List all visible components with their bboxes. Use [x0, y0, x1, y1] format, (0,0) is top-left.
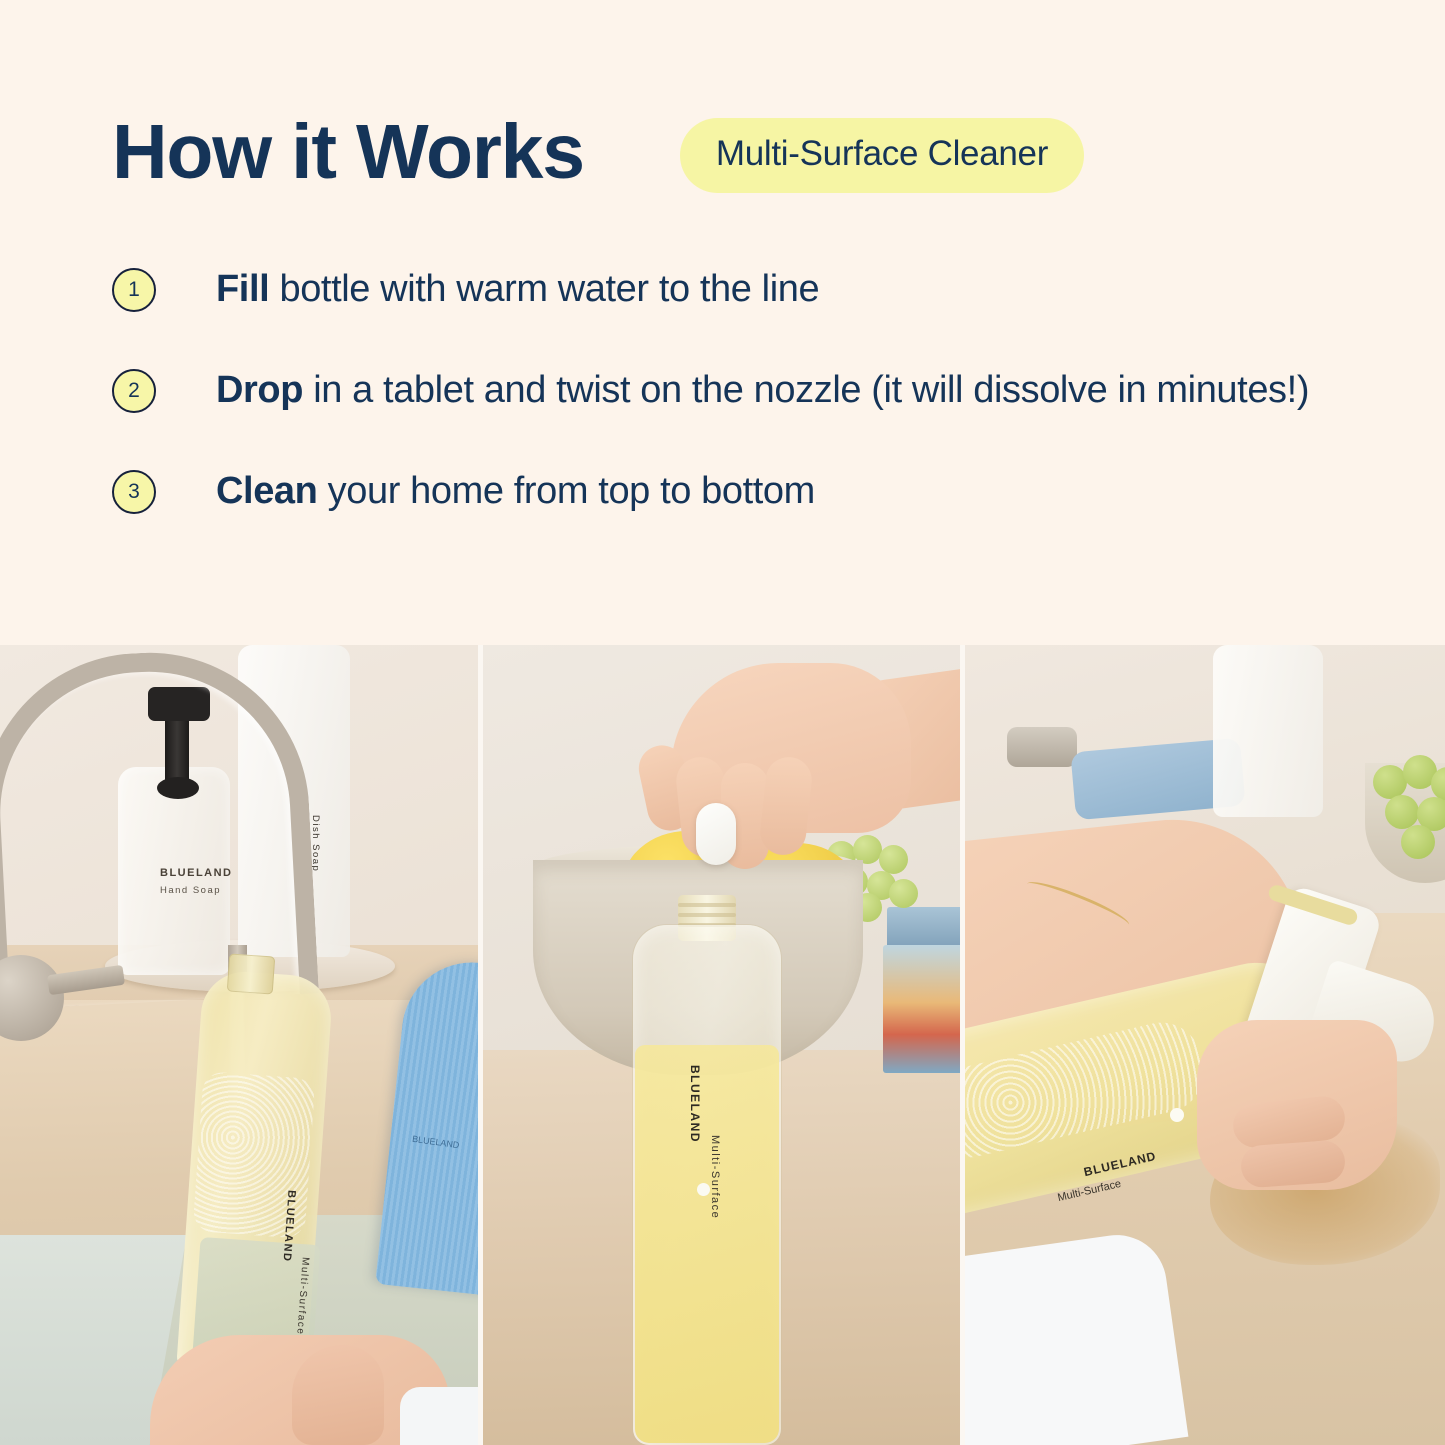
step-detail: in a tablet and twist on the nozzle (it … — [303, 369, 1309, 411]
grape — [1373, 765, 1407, 799]
product-badge: Multi-Surface Cleaner — [680, 118, 1084, 193]
step-number-badge: 2 — [112, 369, 156, 413]
cleaning-tablet — [696, 803, 736, 865]
page-title: How it Works — [112, 114, 584, 191]
water-fizz — [193, 1071, 316, 1238]
step-text: Drop in a tablet and twist on the nozzle… — [216, 363, 1309, 418]
step-number-badge: 3 — [112, 470, 156, 514]
hand-soap-brand-label: BLUELAND — [160, 867, 233, 879]
grape — [1385, 795, 1419, 829]
steps-list: 1 Fill bottle with warm water to the lin… — [112, 262, 1352, 565]
spray-product-label: Multi-Surface — [709, 1135, 721, 1219]
bottle-neck — [227, 953, 276, 994]
step-keyword: Clean — [216, 470, 317, 512]
bottle-liquid — [635, 1045, 779, 1443]
bottle-thread — [678, 903, 736, 907]
photo-panel-fill: BLUELAND Dish Soap BLUELAND Hand Soap BL… — [0, 645, 478, 1445]
step-text: Clean your home from top to bottom — [216, 464, 815, 519]
infographic-page: How it Works Multi-Surface Cleaner 1 Fil… — [0, 0, 1445, 1445]
bubble — [1170, 1108, 1184, 1122]
thumb — [292, 1345, 384, 1445]
step-detail: bottle with warm water to the line — [269, 268, 819, 310]
finger — [1240, 1139, 1347, 1188]
photo-panel-clean: BLUELAND Hand Soap BLUELAND Multi-Surfac… — [965, 645, 1445, 1445]
photo-panel-drop: BLUELAND Multi-Surface — [483, 645, 960, 1445]
spray-brand-label: BLUELAND — [688, 1065, 702, 1143]
faucet-base — [1007, 727, 1077, 767]
sleeve — [965, 1229, 1188, 1445]
grape — [1401, 825, 1435, 859]
title-row: How it Works Multi-Surface Cleaner — [112, 112, 1084, 193]
sleeve — [400, 1387, 478, 1445]
grape — [889, 879, 918, 908]
step-number-badge: 1 — [112, 268, 156, 312]
hand-soap-product-label: Hand Soap — [160, 885, 221, 896]
step-item: 2 Drop in a tablet and twist on the nozz… — [112, 363, 1352, 418]
step-detail: your home from top to bottom — [317, 470, 814, 512]
step-item: 3 Clean your home from top to bottom — [112, 464, 1352, 519]
book-stack — [883, 945, 960, 1073]
bottle-thread — [678, 913, 736, 917]
hand-soap-bottle — [1213, 645, 1323, 817]
step-item: 1 Fill bottle with warm water to the lin… — [112, 262, 1352, 317]
grape — [879, 845, 908, 874]
photo-strip: BLUELAND Dish Soap BLUELAND Hand Soap BL… — [0, 645, 1445, 1445]
step-text: Fill bottle with warm water to the line — [216, 262, 819, 317]
header-section: How it Works Multi-Surface Cleaner 1 Fil… — [0, 0, 1445, 645]
step-keyword: Drop — [216, 369, 303, 411]
step-keyword: Fill — [216, 268, 269, 310]
